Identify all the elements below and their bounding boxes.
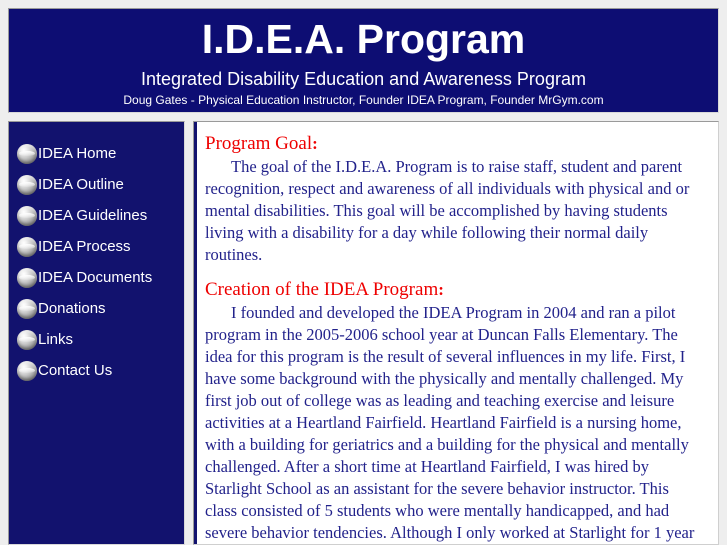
article-body: Program Goal: The goal of the I.D.E.A. P…	[194, 122, 718, 544]
site-header-banner: I.D.E.A. Program Integrated Disability E…	[8, 8, 719, 113]
main-content-panel: Program Goal: The goal of the I.D.E.A. P…	[193, 121, 719, 545]
section-heading-text: Program Goal	[205, 133, 312, 154]
silver-sphere-bullet-icon	[17, 237, 37, 257]
page-root: I.D.E.A. Program Integrated Disability E…	[0, 0, 727, 545]
sidebar-item-contact-us[interactable]: Contact Us	[9, 355, 184, 386]
section-heading-creation-of-the-idea-program: Creation of the IDEA Program:	[205, 278, 704, 301]
silver-sphere-bullet-icon	[17, 299, 37, 319]
sidebar-item-idea-outline[interactable]: IDEA Outline	[9, 169, 184, 200]
page-body: IDEA Home IDEA Outline IDEA Guidelines I…	[8, 121, 719, 545]
silver-sphere-bullet-icon	[17, 361, 37, 381]
sidebar-item-label: Donations	[38, 300, 106, 318]
section-paragraph-creation-of-the-idea-program: I founded and developed the IDEA Program…	[205, 302, 704, 544]
silver-sphere-bullet-icon	[17, 206, 37, 226]
silver-sphere-bullet-icon	[17, 144, 37, 164]
sidebar-item-idea-home[interactable]: IDEA Home	[9, 138, 184, 169]
sidebar-item-links[interactable]: Links	[9, 324, 184, 355]
sidebar-item-label: Links	[38, 331, 73, 349]
section-heading-text: Creation of the IDEA Program	[205, 279, 438, 300]
silver-sphere-bullet-icon	[17, 268, 37, 288]
sidebar-item-idea-process[interactable]: IDEA Process	[9, 231, 184, 262]
section-heading-program-goal: Program Goal:	[205, 132, 704, 155]
section-heading-colon: :	[312, 134, 318, 153]
silver-sphere-bullet-icon	[17, 330, 37, 350]
site-byline: Doug Gates - Physical Education Instruct…	[9, 90, 718, 107]
sidebar-item-label: IDEA Guidelines	[38, 207, 147, 225]
sidebar-item-label: Contact Us	[38, 362, 112, 380]
sidebar-item-label: IDEA Home	[38, 145, 116, 163]
sidebar-item-donations[interactable]: Donations	[9, 293, 184, 324]
site-subtitle: Integrated Disability Education and Awar…	[9, 62, 718, 90]
sidebar-item-idea-guidelines[interactable]: IDEA Guidelines	[9, 200, 184, 231]
section-heading-colon: :	[438, 280, 444, 299]
section-paragraph-program-goal: The goal of the I.D.E.A. Program is to r…	[205, 156, 704, 266]
sidebar-item-label: IDEA Documents	[38, 269, 152, 287]
sidebar-item-label: IDEA Process	[38, 238, 131, 256]
site-title: I.D.E.A. Program	[9, 9, 718, 62]
sidebar-item-label: IDEA Outline	[38, 176, 124, 194]
silver-sphere-bullet-icon	[17, 175, 37, 195]
sidebar-navigation: IDEA Home IDEA Outline IDEA Guidelines I…	[8, 121, 185, 545]
sidebar-item-idea-documents[interactable]: IDEA Documents	[9, 262, 184, 293]
